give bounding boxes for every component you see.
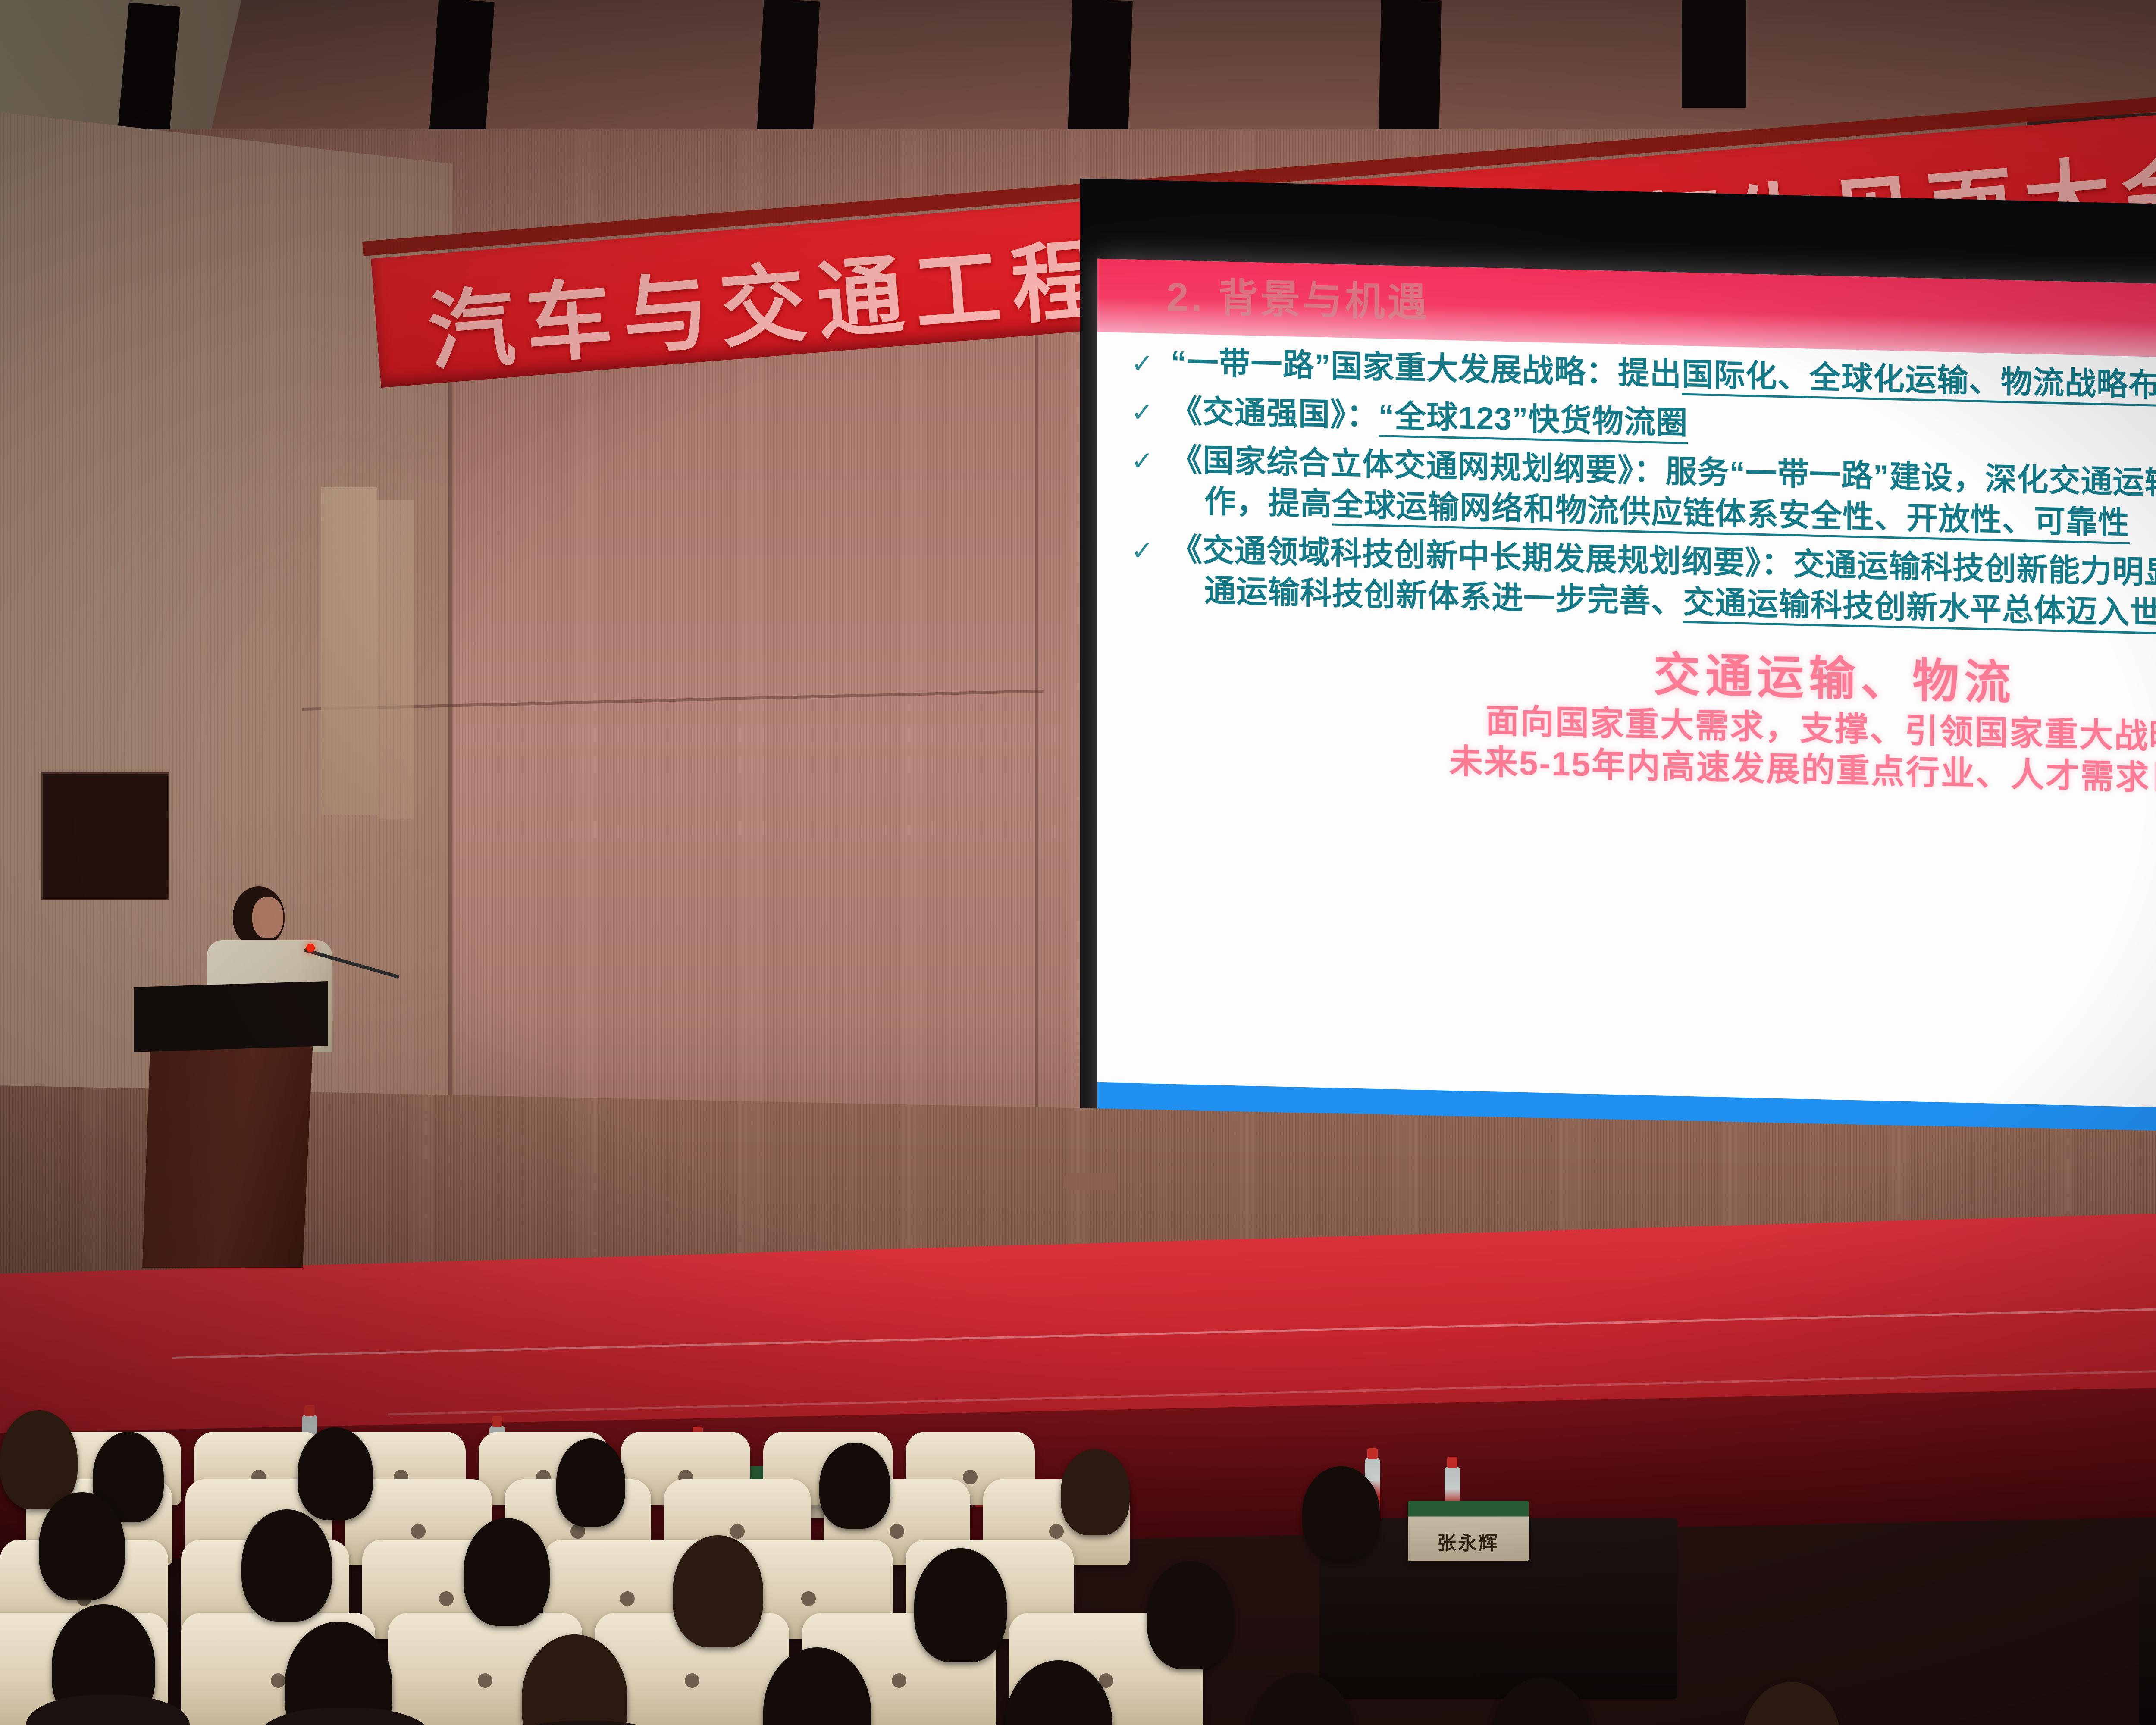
presentation-slide: 2. 背景与机遇 ✓“一带一路”国家重大发展战略：提出国际化、全球化运输、物流战…: [1097, 259, 2156, 1173]
check-icon: ✓: [1131, 533, 1154, 569]
audience-head: [819, 1443, 890, 1529]
wall-seam: [1035, 328, 1038, 1147]
audience-head: [298, 1427, 373, 1520]
name-card: 张永辉: [1408, 1501, 1529, 1561]
check-icon: ✓: [1131, 395, 1154, 430]
audience-head: [914, 1548, 1007, 1662]
slide-title: 2. 背景与机遇: [1166, 264, 1429, 328]
wall-outlet: [1065, 1173, 1117, 1190]
audience-head: [1061, 1449, 1130, 1535]
ceiling-slot: [1682, 0, 1746, 108]
av-console: [2139, 1570, 2156, 1725]
audience-head: [1147, 1561, 1233, 1669]
audience-head: [673, 1535, 763, 1647]
audience-head: [241, 1509, 332, 1621]
name-card-text: 张永辉: [1437, 1527, 1499, 1561]
audience-head: [1302, 1466, 1380, 1559]
emphasis-text: 交通运输科技创新水平总体迈入世界前列: [1683, 585, 2156, 637]
wall-pillar-light: [377, 500, 414, 819]
ceiling-slot: [1379, 0, 1442, 143]
podium-lectern-top: [134, 981, 328, 1052]
check-icon: ✓: [1131, 444, 1154, 479]
slide-bullet: ✓《交通领域科技创新中长期发展规划纲要》：交通运输科技创新能力明显提升，交通运输…: [1097, 527, 2156, 644]
bullet-line: 《交通强国》：“全球123”快货物流圈: [1171, 394, 1688, 444]
plain-text: 作，提高: [1204, 484, 1332, 522]
emphasis-text: “全球123”快货物流圈: [1379, 398, 1688, 444]
emphasis-text: 国际化、全球化运输、物流战略布局: [1682, 357, 2156, 408]
slide-body: ✓“一带一路”国家重大发展战略：提出国际化、全球化运输、物流战略布局✓《交通强国…: [1097, 341, 2156, 808]
audience-head: [464, 1518, 550, 1626]
plain-text: 通运输科技创新体系进一步完善、: [1204, 574, 1683, 620]
wall-pillar-light: [321, 487, 377, 815]
wall-panel-dark: [41, 772, 169, 900]
speaker-face: [252, 897, 283, 938]
audience-head: [0, 1410, 78, 1509]
audience-head: [39, 1492, 125, 1600]
microphone-led-icon: [306, 944, 315, 952]
plain-text: “一带一路”国家重大发展战略：提出: [1171, 345, 1682, 392]
audience-head: [1742, 1682, 1841, 1725]
auditorium-photo: 汽车与交通工程学院2023级师生见面大会 2. 背景与机遇 ✓“一带一路”国家重…: [0, 0, 2156, 1725]
check-icon: ✓: [1131, 347, 1154, 382]
audience-head: [556, 1438, 625, 1527]
plain-text: 《交通强国》：: [1171, 394, 1379, 433]
